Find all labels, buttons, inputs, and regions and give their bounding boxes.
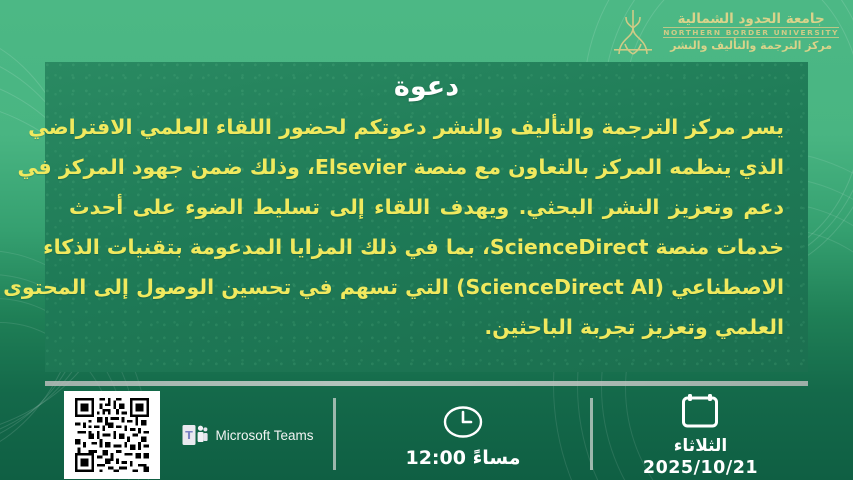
university-logo: جامعة الحدود الشمالية NORTHERN BORDER UN… (610, 8, 839, 56)
invitation-poster: جامعة الحدود الشمالية NORTHERN BORDER UN… (0, 0, 853, 480)
microsoft-teams-logo[interactable]: T Microsoft Teams (182, 423, 313, 447)
invitation-body: يسر مركز الترجمة والتأليف والنشر دعوتكم … (63, 108, 790, 348)
center-name-arabic: مركز الترجمة والتأليف والنشر (663, 40, 839, 52)
page-title: دعوة (63, 70, 790, 104)
date-section: الثلاثاء 2025/10/21 (593, 390, 808, 480)
event-time: 12:00 مساءً (405, 447, 520, 469)
body-line: الذي ينظمه المركز بالتعاون مع منصة Elsev… (69, 148, 784, 188)
body-line: دعم وتعزيز النشر البحثي. ويهدف اللقاء إل… (69, 188, 784, 228)
body-line: الاصطناعي (ScienceDirect AI) التي تسهم ف… (69, 268, 784, 308)
body-line: خدمات منصة ScienceDirect، بما في ذلك الم… (69, 228, 784, 268)
calendar-icon (677, 392, 723, 434)
body-line: يسر مركز الترجمة والتأليف والنشر دعوتكم … (69, 108, 784, 148)
university-emblem-icon (610, 8, 656, 56)
clock-icon (441, 401, 485, 445)
horizontal-divider (45, 381, 808, 386)
university-name-english: NORTHERN BORDER UNIVERSITY (663, 27, 839, 38)
university-name-arabic: جامعة الحدود الشمالية (663, 12, 839, 26)
university-logo-text: جامعة الحدود الشمالية NORTHERN BORDER UN… (663, 12, 839, 51)
microsoft-teams-icon: T (182, 423, 208, 447)
event-date: 2025/10/21 (643, 458, 758, 478)
info-bar: T Microsoft Teams 12:00 مساءً (45, 390, 808, 480)
invitation-panel: دعوة يسر مركز الترجمة والتأليف والنشر دع… (45, 62, 808, 372)
svg-text:T: T (186, 429, 194, 442)
qr-code-icon[interactable] (64, 391, 160, 479)
join-section: T Microsoft Teams (45, 390, 333, 480)
event-day: الثلاثاء (674, 436, 728, 456)
body-line: العلمي وتعزيز تجربة الباحثين. (69, 308, 784, 348)
time-section: 12:00 مساءً (336, 390, 590, 480)
teams-label: Microsoft Teams (215, 428, 313, 443)
